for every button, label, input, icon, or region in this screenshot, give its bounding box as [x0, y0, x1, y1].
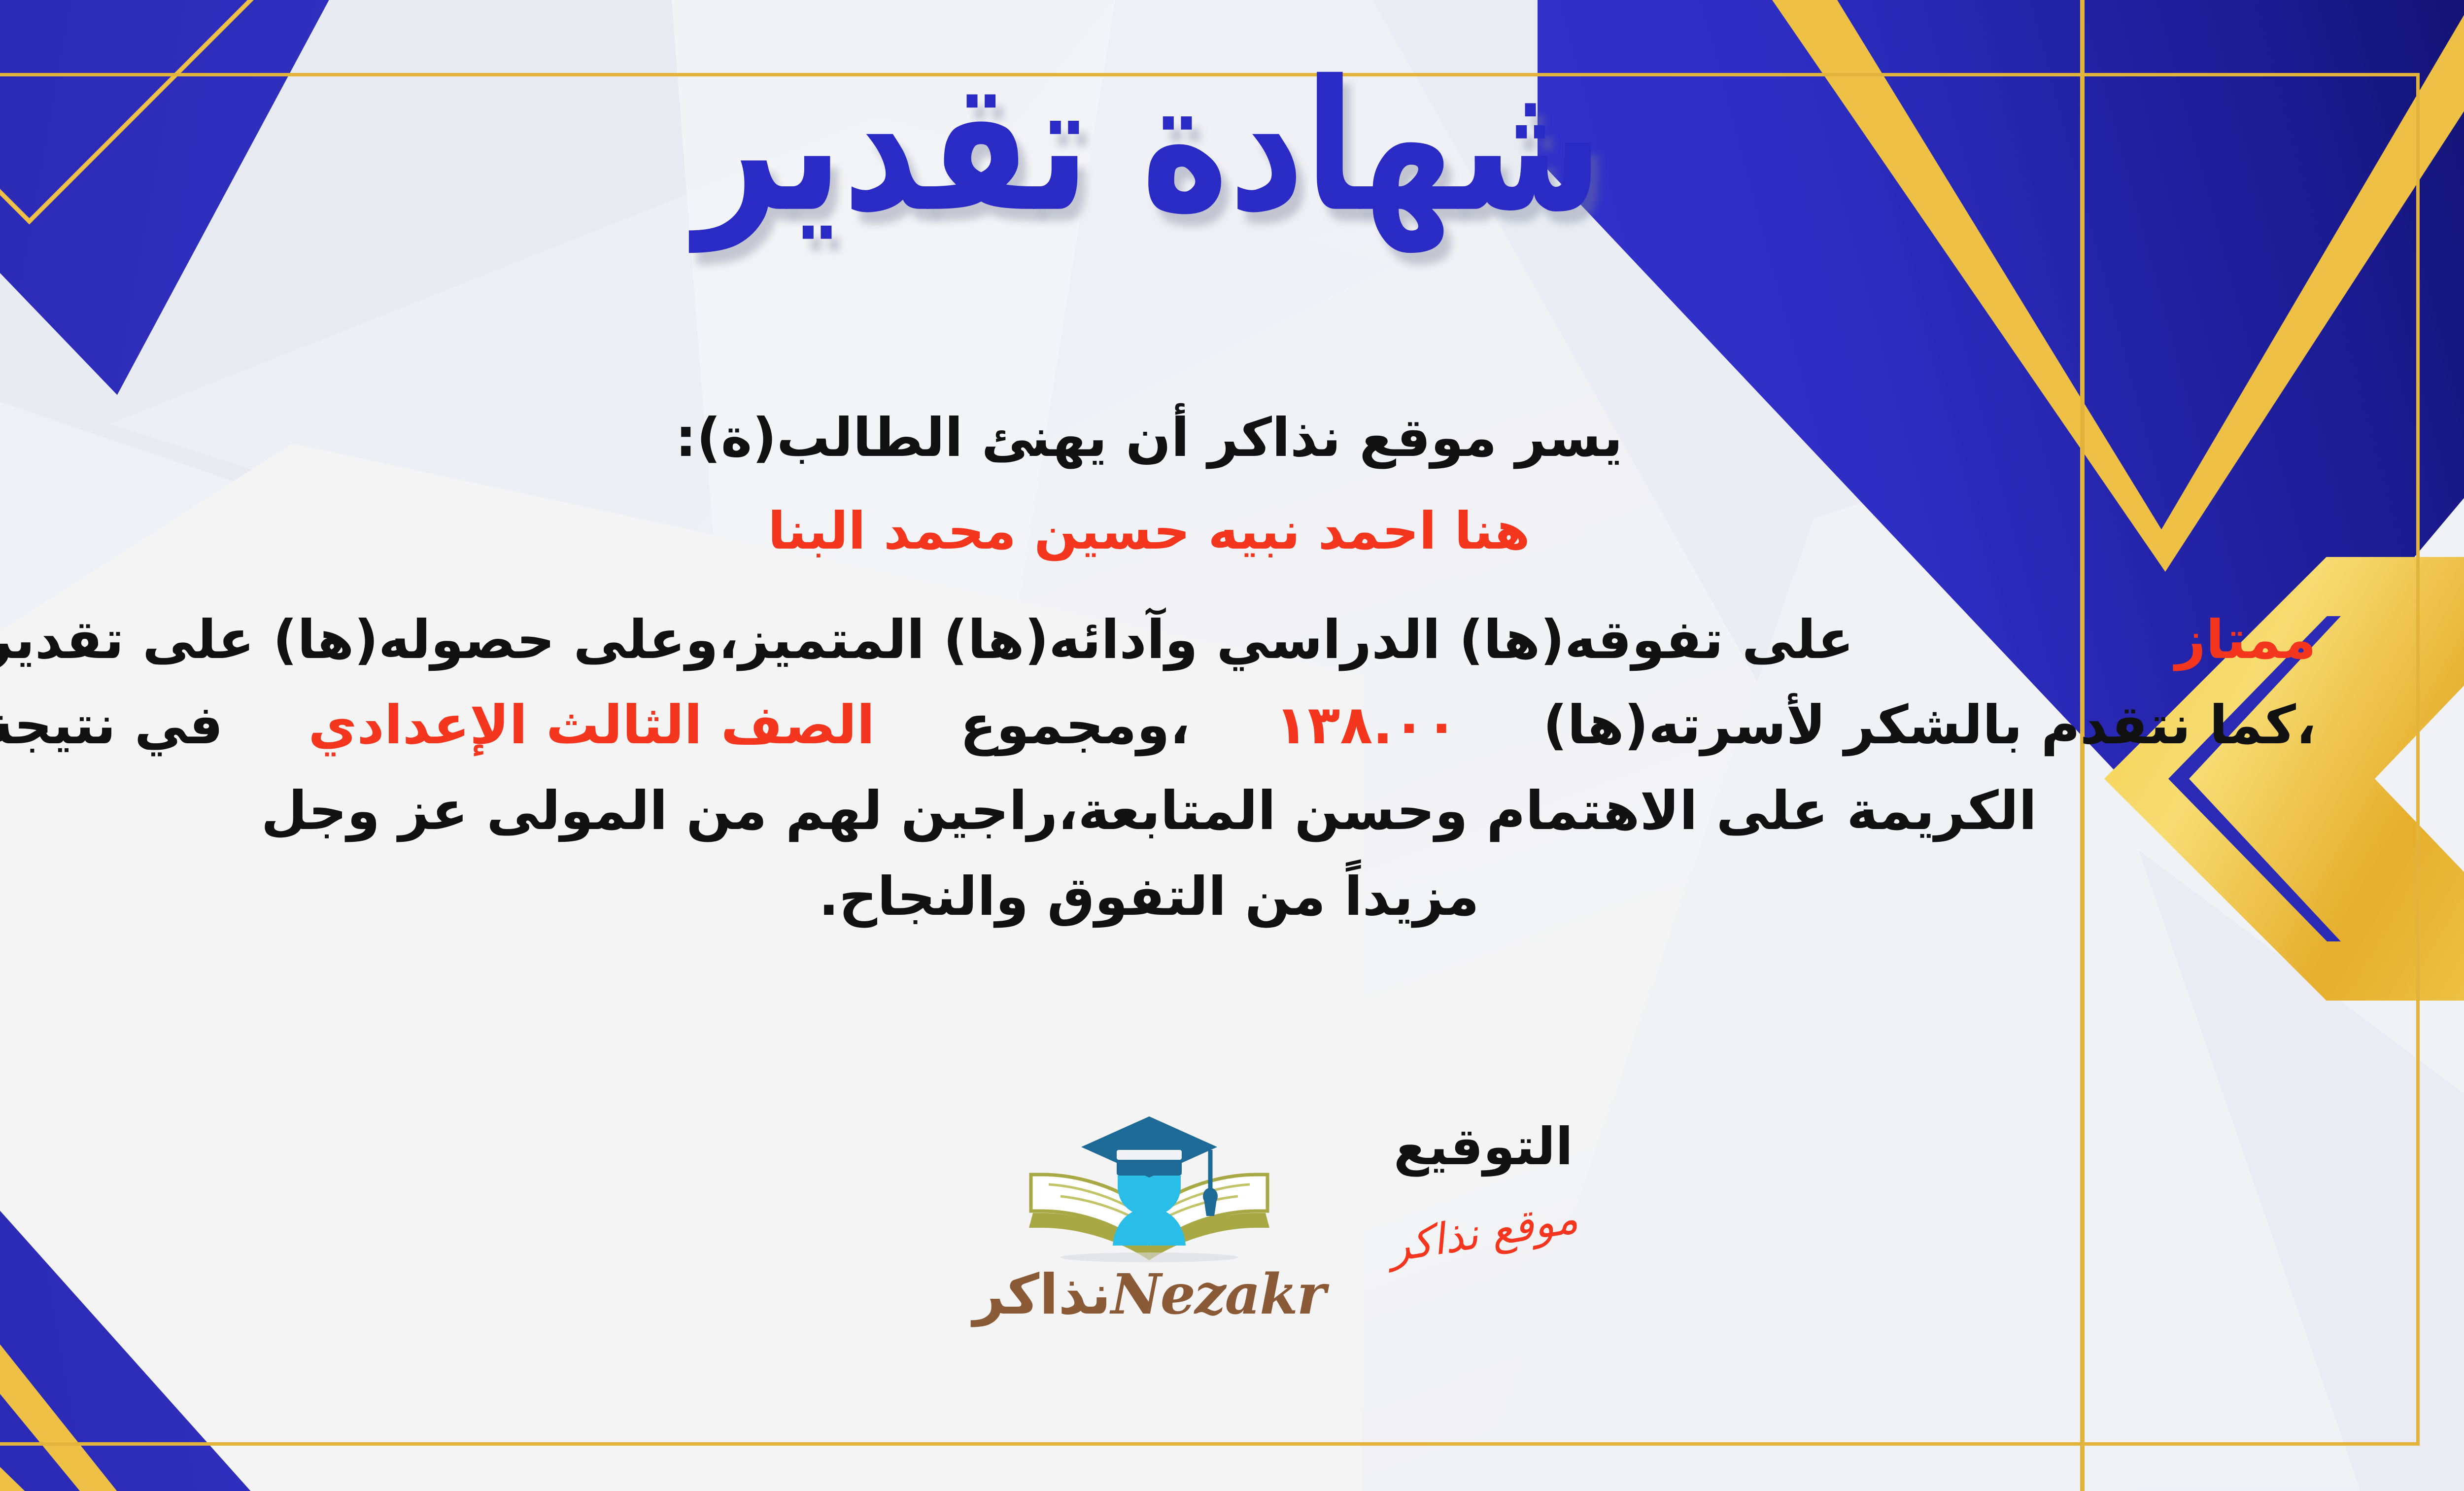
achievement-line-4: مزيداً من التفوق والنجاح.	[0, 858, 2316, 936]
certificate-page: شهادة تقدير يسر موقع نذاكر أن يهنئ الطال…	[0, 0, 2464, 1491]
page-title: شهادة تقدير	[0, 69, 2464, 224]
certificate-footer: التوقيع موقع نذاكر	[0, 1097, 2316, 1412]
achievement-line-3: الكريمة على الاهتمام وحسن المتابعة،راجين…	[0, 772, 2316, 850]
total-score-value: ١٣٨.٠٠	[1275, 687, 1458, 764]
grade-value: ممتاز	[2175, 601, 2316, 679]
achievement-line-2: ،كما نتقدم بالشكر لأسرته(ها) ١٣٨.٠٠ ،ومج…	[0, 687, 2316, 764]
congratulation-lead: يسر موقع نذاكر أن يهنئ الطالب(ة):	[0, 399, 2316, 477]
achievement-line-1: ممتاز على تفوقه(ها) الدراسي وآدائه(ها) ا…	[0, 601, 2316, 679]
result-label: في نتيجة	[0, 687, 223, 764]
student-name: هنا احمد نبيه حسين محمد البنا	[0, 494, 2316, 569]
grade-stage-value: الصف الثالث الإعدادي	[308, 687, 875, 764]
logo-latin-text: Nezakr	[1111, 1262, 1325, 1327]
achievement-text: على تفوقه(ها) الدراسي وآدائه(ها) المتميز…	[0, 601, 1854, 679]
signature-block: التوقيع موقع نذاكر	[1355, 1116, 1611, 1257]
logo-arabic-text: نذاكر	[973, 1263, 1111, 1327]
signature-label: التوقيع	[1355, 1116, 1611, 1177]
graduation-book-icon	[1011, 1102, 1287, 1264]
logo-wordmark: Nezakrنذاكر	[962, 1267, 1336, 1322]
thanks-clause: ،كما نتقدم بالشكر لأسرته(ها)	[1543, 687, 2316, 764]
site-logo: Nezakrنذاكر	[962, 1102, 1336, 1322]
certificate-title-text: شهادة تقدير	[695, 52, 1603, 241]
total-label: ،ومجموع	[960, 687, 1190, 764]
signature-mark: موقع نذاكر	[1386, 1193, 1581, 1272]
certificate-body: يسر موقع نذاكر أن يهنئ الطالب(ة): هنا اح…	[0, 399, 2316, 943]
